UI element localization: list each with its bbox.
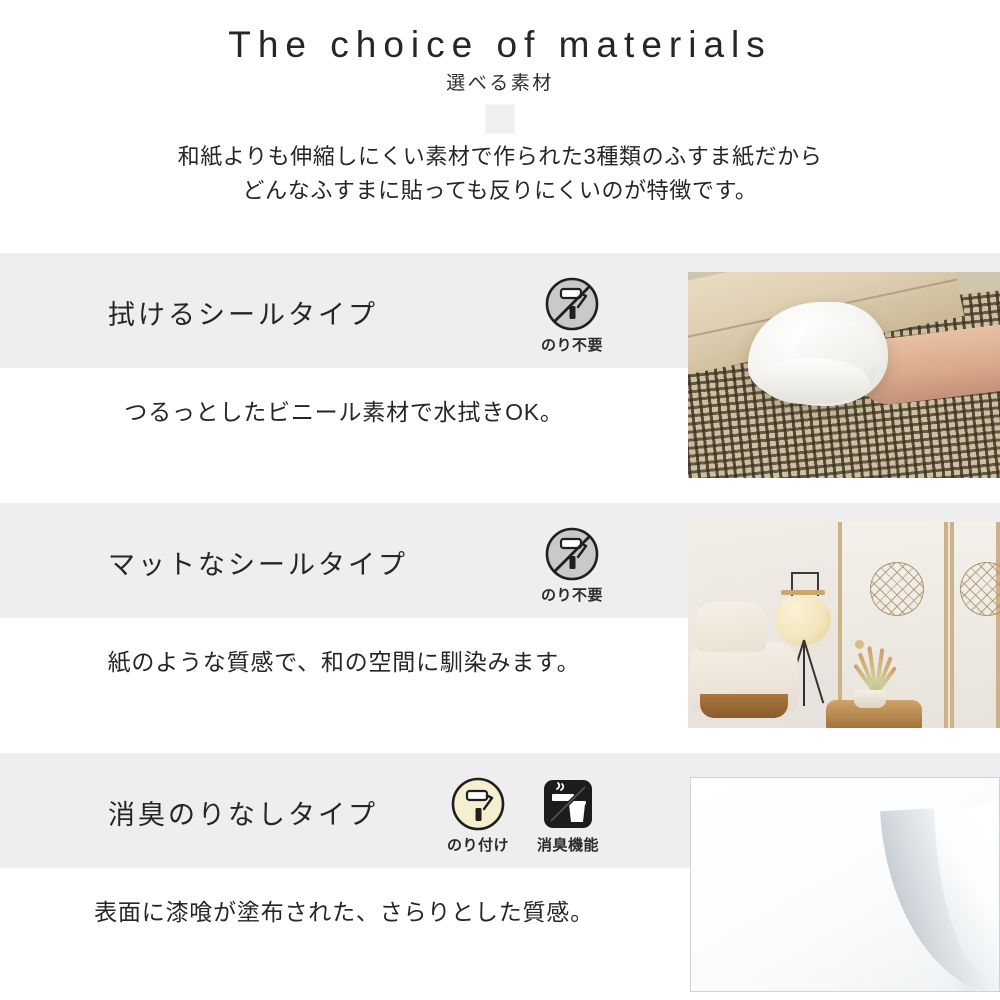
paint-roller-prohibited-icon (536, 275, 608, 333)
page-subtitle: 選べる素材 (0, 68, 1000, 95)
section-3-description: 表面に漆喰が塗布された、さらりとした質感。 (0, 893, 688, 927)
paint-roller-prohibited-icon (536, 525, 608, 583)
badge-no-glue: のり不要 (536, 525, 608, 605)
lead-line-2: どんなふすまに貼っても反りにくいのが特徴です。 (0, 174, 1000, 208)
section-2-description: 紙のような質感で、和の空間に馴染みます。 (0, 643, 688, 677)
badge-glue-included: のり付け (442, 775, 514, 855)
circular-lattice-1 (870, 562, 924, 616)
pampas-grass (846, 640, 906, 694)
paint-roller-icon (442, 775, 514, 833)
section-3-badges: のり付け (442, 775, 604, 855)
section-1-photo (688, 272, 1000, 478)
boucle-chair (690, 642, 798, 712)
paper-lantern-lamp (775, 594, 831, 646)
section-1-badges: のり不要 (536, 275, 608, 355)
section-2-photo (688, 522, 1000, 728)
lead-line-1: 和紙よりも伸縮しにくい素材で作られた3種類のふすま紙だから (0, 140, 1000, 174)
badge-no-glue: のり不要 (536, 275, 608, 355)
badge-deodorize-label: 消臭機能 (532, 834, 604, 855)
page-header: The choice of materials 選べる素材 和紙よりも伸縮しにく… (0, 0, 1000, 253)
badge-deodorize: 消臭機能 (532, 775, 604, 855)
section-2-title: マットなシールタイプ (108, 543, 408, 582)
section-3-title: 消臭のりなしタイプ (108, 793, 378, 832)
plant-pot (854, 690, 886, 708)
product-feature-page: The choice of materials 選べる素材 和紙よりも伸縮しにく… (0, 0, 1000, 1000)
badge-no-glue-label: のり不要 (536, 334, 608, 355)
divider-square (485, 104, 515, 134)
section-1-title: 拭けるシールタイプ (108, 293, 378, 332)
page-title: The choice of materials (0, 24, 1000, 66)
section-3-photo (690, 777, 1000, 992)
fusuma-panel-2 (950, 522, 1000, 728)
section-2-badges: のり不要 (536, 525, 608, 605)
section-3-header: 消臭のりなしタイプ のり付け (0, 753, 688, 868)
section-1-header: 拭けるシールタイプ のり不要 (0, 253, 688, 368)
section-1-description: つるっとしたビニール素材で水拭きOK。 (0, 393, 688, 427)
door-knob (855, 640, 864, 649)
lead-paragraph: 和紙よりも伸縮しにくい素材で作られた3種類のふすま紙だから どんなふすまに貼って… (0, 140, 1000, 208)
badge-no-glue-label: のり不要 (536, 584, 608, 605)
paper-curl (880, 805, 1000, 992)
badge-glue-included-label: のり付け (442, 834, 514, 855)
deodorize-icon (532, 775, 604, 833)
section-2-header: マットなシールタイプ のり不要 (0, 503, 688, 618)
